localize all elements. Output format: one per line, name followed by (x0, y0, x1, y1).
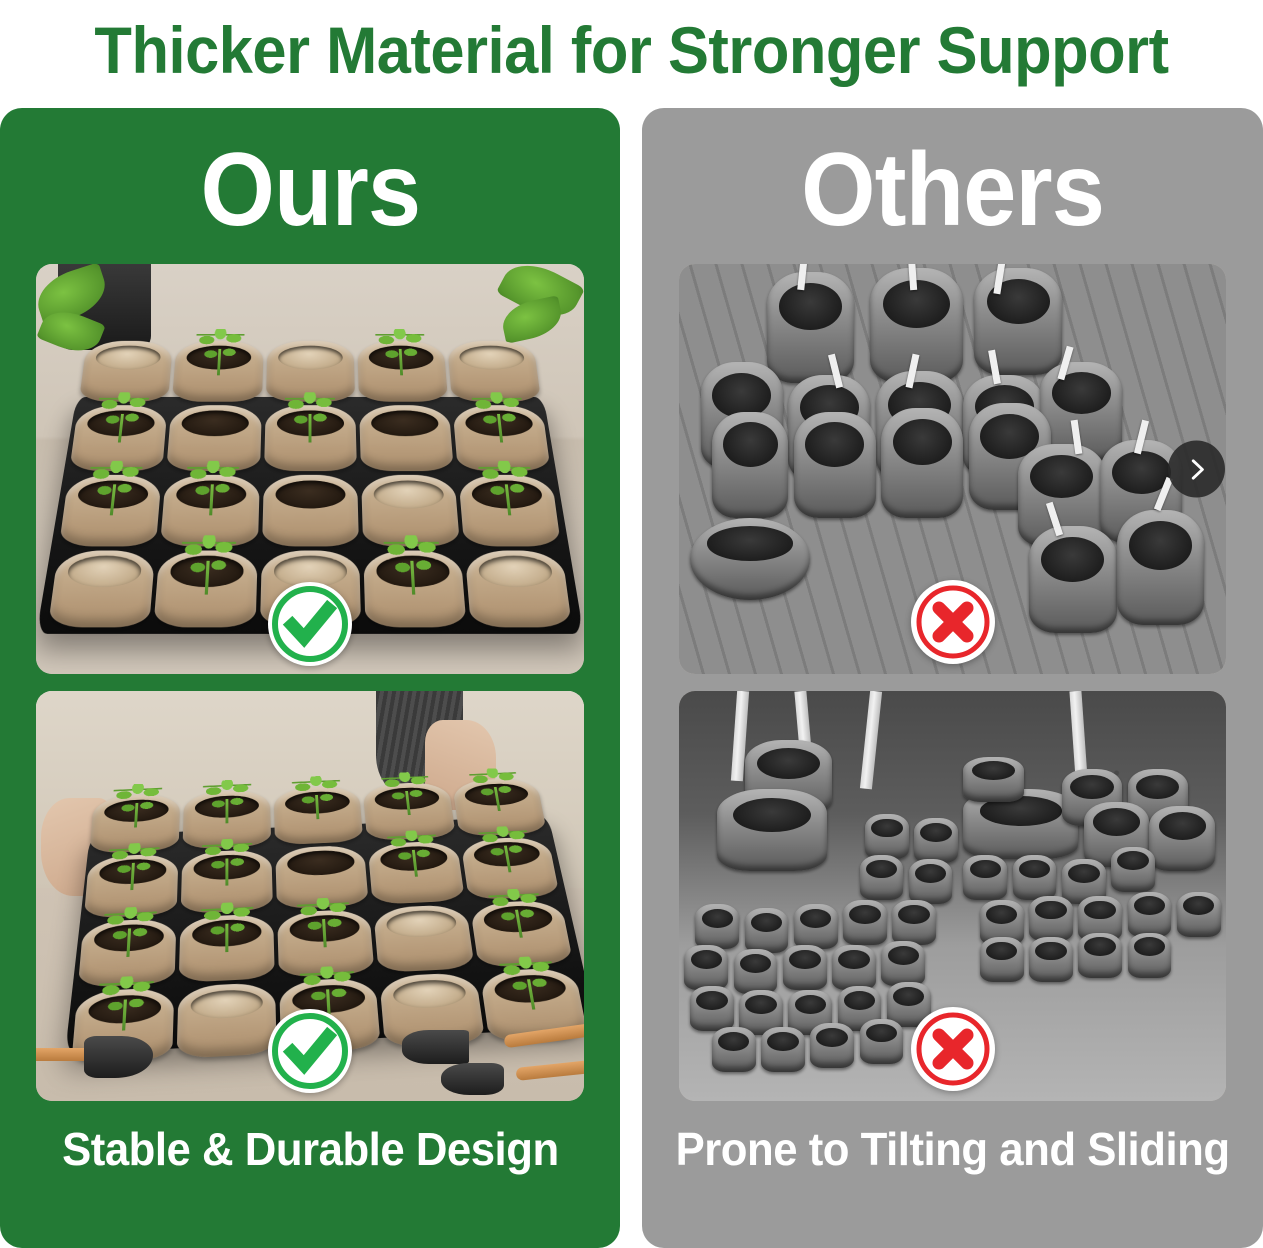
small-pot (1029, 937, 1073, 982)
peat-pot (464, 550, 572, 628)
plastic-pot (881, 408, 963, 519)
peat-pot (357, 341, 448, 402)
peat-pot (48, 550, 156, 628)
plastic-pot (767, 272, 855, 383)
peat-pot (359, 405, 454, 471)
small-pot (690, 986, 734, 1031)
small-pot (1149, 806, 1215, 872)
garden-trowel (36, 1023, 189, 1097)
small-pot (860, 1019, 904, 1064)
panel-others: Others (642, 108, 1263, 1248)
product-comparison-infographic: Thicker Material for Stronger Support Ou… (0, 0, 1263, 1248)
panel-ours-title: Ours (200, 138, 420, 242)
stone (690, 518, 810, 600)
small-pot (810, 1023, 854, 1068)
panel-others-caption: Prone to Tilting and Sliding (676, 1126, 1230, 1172)
small-pot (1029, 896, 1073, 941)
peat-pot (59, 475, 162, 546)
small-pot (1128, 933, 1172, 978)
comparison-panels: Ours (0, 108, 1263, 1248)
cross-circle-icon (911, 580, 995, 664)
status-badge-rejected (911, 580, 995, 664)
plant-label (908, 264, 917, 290)
others-photo-2[interactable] (679, 691, 1226, 1101)
check-circle-icon (268, 1009, 352, 1093)
peat-pot (153, 550, 257, 628)
small-pot (734, 949, 778, 994)
ours-photo-2[interactable] (36, 691, 584, 1101)
small-pot (745, 908, 789, 953)
small-pot (1177, 892, 1221, 937)
peat-pot (261, 475, 358, 546)
small-pot (832, 945, 876, 990)
small-pot (1111, 847, 1155, 892)
small-pot (843, 900, 887, 945)
panel-others-title: Others (801, 138, 1104, 242)
plastic-pot (1117, 510, 1205, 625)
status-badge-rejected (911, 1007, 995, 1091)
small-pot (1078, 933, 1122, 978)
small-pot (980, 937, 1024, 982)
small-pot (909, 859, 953, 904)
others-photo-1[interactable] (679, 264, 1226, 674)
panel-ours-caption: Stable & Durable Design (62, 1126, 559, 1172)
peat-pot (179, 913, 275, 983)
cross-circle-icon (911, 1007, 995, 1091)
small-pot (865, 814, 909, 859)
panel-others-photo-stack (642, 264, 1263, 1101)
small-pot (794, 904, 838, 949)
small-pot (783, 945, 827, 990)
garden-rake (398, 1023, 584, 1097)
small-pot (1128, 892, 1172, 937)
peat-pot (368, 840, 465, 904)
page-title: Thicker Material for Stronger Support (44, 0, 1219, 100)
peat-pot (177, 982, 277, 1058)
plastic-pot (794, 412, 876, 519)
peat-pot (172, 341, 263, 402)
peat-pot (458, 475, 561, 546)
peat-pot (274, 785, 364, 845)
small-pot (881, 941, 925, 986)
status-badge-approved (268, 1009, 352, 1093)
small-pot (695, 904, 739, 949)
status-badge-approved (268, 582, 352, 666)
small-pot (963, 855, 1007, 900)
plastic-pot (712, 412, 789, 519)
small-pot (712, 1027, 756, 1072)
small-pot (860, 855, 904, 900)
small-pot (1013, 855, 1057, 900)
chevron-right-icon (1184, 456, 1210, 482)
small-pot (914, 818, 958, 863)
small-pot (761, 1027, 805, 1072)
plastic-pot (1029, 526, 1117, 633)
large-black-pot (717, 789, 826, 871)
peat-pot (363, 550, 467, 628)
small-pot (684, 945, 728, 990)
panel-ours-photo-stack (0, 264, 620, 1101)
small-pot (963, 757, 1023, 802)
peat-pot (374, 903, 475, 973)
check-circle-icon (268, 582, 352, 666)
ours-photo-1[interactable] (36, 264, 584, 674)
panel-ours: Ours (0, 108, 620, 1248)
peat-pot (263, 405, 356, 471)
plastic-pot (974, 268, 1062, 375)
carousel-next-button[interactable] (1168, 441, 1225, 498)
small-pot (892, 900, 936, 945)
